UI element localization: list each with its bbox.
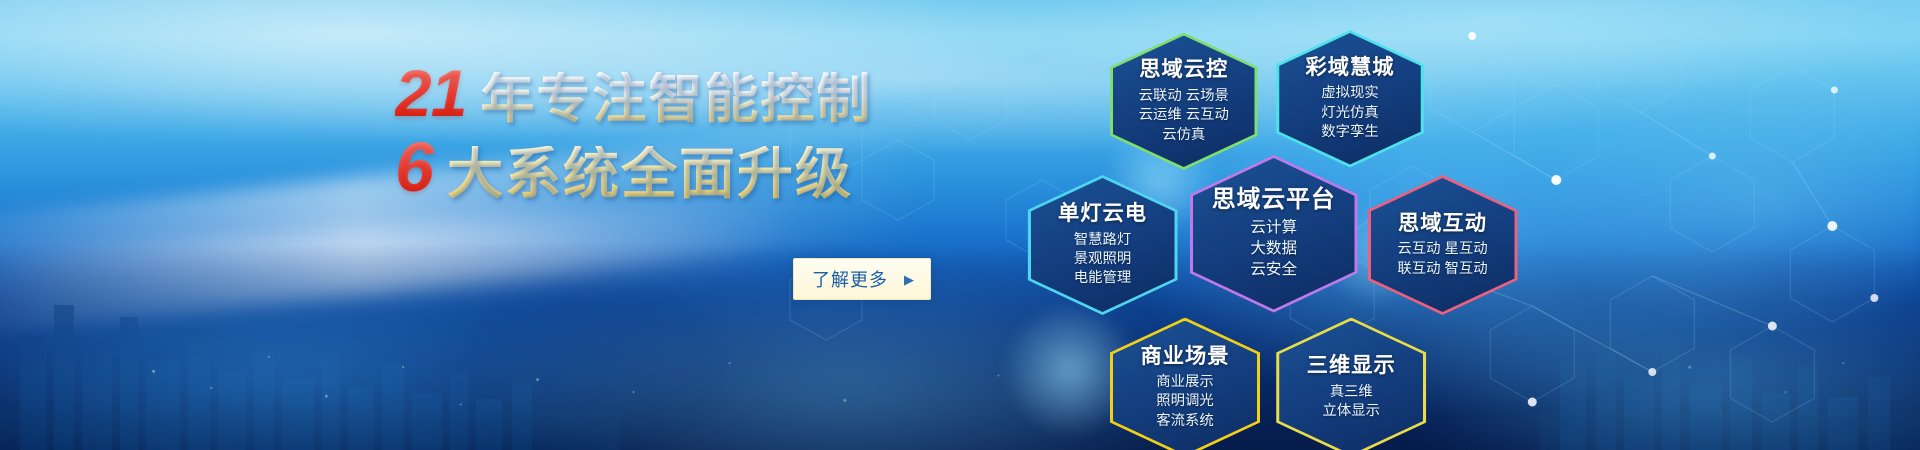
hexagon-subtitle: 照明调光 — [1140, 392, 1229, 410]
hexagon-siyu-interaction[interactable]: 思域互动云互动 星互动联互动 智互动 — [1368, 175, 1518, 315]
hexagon-subtitle: 云仿真 — [1139, 126, 1229, 144]
hexagon-subtitle-list: 真三维立体显示 — [1307, 383, 1396, 421]
hexagon-subtitle: 云计算 — [1212, 218, 1336, 238]
hexagon-siyu-cloud-platform[interactable]: 思域云平台云计算大数据云安全 — [1190, 155, 1358, 313]
hexagon-single-lamp-cloud-power[interactable]: 单灯云电智慧路灯景观照明电能管理 — [1028, 175, 1178, 315]
hexagon-subtitle-list: 虚拟现实灯光仿真数字孪生 — [1305, 84, 1394, 141]
hexagon-subtitle: 联互动 智互动 — [1397, 260, 1487, 278]
hexagon-content: 思域互动云互动 星互动联互动 智互动 — [1391, 212, 1493, 278]
hexagon-title: 思域云平台 — [1212, 187, 1336, 213]
hexagon-subtitle: 真三维 — [1307, 383, 1396, 401]
hexagon-subtitle-list: 商业展示照明调光客流系统 — [1140, 373, 1229, 430]
hexagon-content: 思域云控云联动 云场景云运维 云互动云仿真 — [1133, 58, 1235, 144]
promo-banner: 21 年专注智能控制 6 大系统全面升级 了解更多 ▶ 思域云控云联动 云场景云… — [0, 0, 1920, 450]
hexagon-subtitle: 云联动 云场景 — [1139, 87, 1229, 105]
hexagon-subtitle: 智慧路灯 — [1058, 231, 1147, 249]
hexagon-three-dimensional-display[interactable]: 三维显示真三维立体显示 — [1276, 318, 1426, 450]
hexagon-subtitle-list: 云互动 星互动联互动 智互动 — [1397, 240, 1487, 278]
hexagon-content: 思域云平台云计算大数据云安全 — [1206, 187, 1342, 280]
hexagon-subtitle: 立体显示 — [1307, 402, 1396, 420]
hexagon-title: 彩域慧城 — [1305, 56, 1394, 79]
hexagon-title: 思域云控 — [1139, 58, 1229, 81]
hexagon-content: 单灯云电智慧路灯景观照明电能管理 — [1052, 202, 1153, 288]
hexagon-title: 思域互动 — [1397, 212, 1487, 235]
hexagon-subtitle: 景观照明 — [1058, 250, 1147, 268]
hexagon-content: 商业场景商业展示照明调光客流系统 — [1134, 345, 1235, 431]
hexagon-subtitle: 云安全 — [1212, 260, 1336, 280]
hexagon-commercial-scene[interactable]: 商业场景商业展示照明调光客流系统 — [1110, 318, 1260, 450]
hexagon-subtitle: 虚拟现实 — [1305, 84, 1394, 102]
hexagon-subtitle-list: 智慧路灯景观照明电能管理 — [1058, 231, 1147, 288]
hexagon-subtitle-list: 云联动 云场景云运维 云互动云仿真 — [1139, 87, 1229, 144]
hexagon-caiyu-smart-city[interactable]: 彩域慧城虚拟现实灯光仿真数字孪生 — [1276, 30, 1424, 168]
hexagon-title: 三维显示 — [1307, 354, 1396, 377]
hexagon-content: 三维显示真三维立体显示 — [1301, 354, 1402, 420]
hexagon-cluster: 思域云控云联动 云场景云运维 云互动云仿真彩域慧城虚拟现实灯光仿真数字孪生单灯云… — [0, 0, 1920, 450]
hexagon-subtitle: 客流系统 — [1140, 412, 1229, 430]
hexagon-subtitle: 大数据 — [1212, 239, 1336, 259]
hexagon-content: 彩域慧城虚拟现实灯光仿真数字孪生 — [1299, 56, 1400, 142]
hexagon-title: 单灯云电 — [1058, 202, 1147, 225]
hexagon-subtitle-list: 云计算大数据云安全 — [1212, 218, 1336, 280]
hexagon-title: 商业场景 — [1140, 345, 1229, 368]
hexagon-subtitle: 商业展示 — [1140, 373, 1229, 391]
hexagon-subtitle: 电能管理 — [1058, 269, 1147, 287]
hexagon-subtitle: 云互动 星互动 — [1397, 240, 1487, 258]
hexagon-subtitle: 云运维 云互动 — [1139, 106, 1229, 124]
hexagon-subtitle: 灯光仿真 — [1305, 104, 1394, 122]
hexagon-siyu-cloud-control[interactable]: 思域云控云联动 云场景云运维 云互动云仿真 — [1110, 33, 1258, 171]
hexagon-subtitle: 数字孪生 — [1305, 123, 1394, 141]
